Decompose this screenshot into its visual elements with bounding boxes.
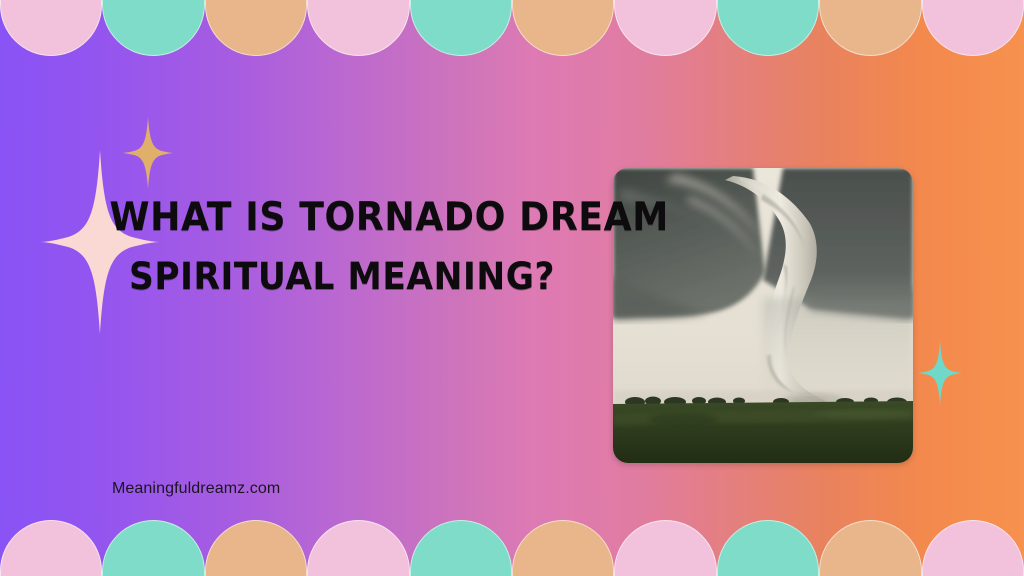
scallop-tab [102, 520, 204, 576]
scallop-tab [205, 520, 307, 576]
sparkle-star-icon [915, 341, 965, 405]
sparkle-star-icon [120, 117, 176, 189]
poster-canvas: What is Tornado Dream Spiritual Meaning?… [0, 0, 1024, 576]
scallop-tab [512, 0, 614, 56]
page-title: What is Tornado Dream Spiritual Meaning? [110, 188, 575, 306]
scallop-tab [614, 520, 716, 576]
scallop-tab [717, 0, 819, 56]
headline-line-1: What is Tornado Dream [110, 188, 575, 248]
scallop-tab [717, 520, 819, 576]
scallop-tab [922, 520, 1024, 576]
site-watermark: Meaningfuldreamz.com [112, 480, 280, 498]
scallop-tab [922, 0, 1024, 56]
scallop-tab [614, 0, 716, 56]
scallop-tab [0, 520, 102, 576]
bottom-scallop-border [0, 520, 1024, 576]
scallop-tab [819, 0, 921, 56]
top-scallop-border [0, 0, 1024, 56]
scallop-tab [512, 520, 614, 576]
scallop-tab [205, 0, 307, 56]
scallop-tab [307, 0, 409, 56]
headline-line-2: Spiritual Meaning? [110, 248, 575, 305]
scallop-tab [102, 0, 204, 56]
scallop-tab [410, 520, 512, 576]
scallop-tab [0, 0, 102, 56]
scallop-tab [819, 520, 921, 576]
scallop-tab [307, 520, 409, 576]
scallop-tab [410, 0, 512, 56]
